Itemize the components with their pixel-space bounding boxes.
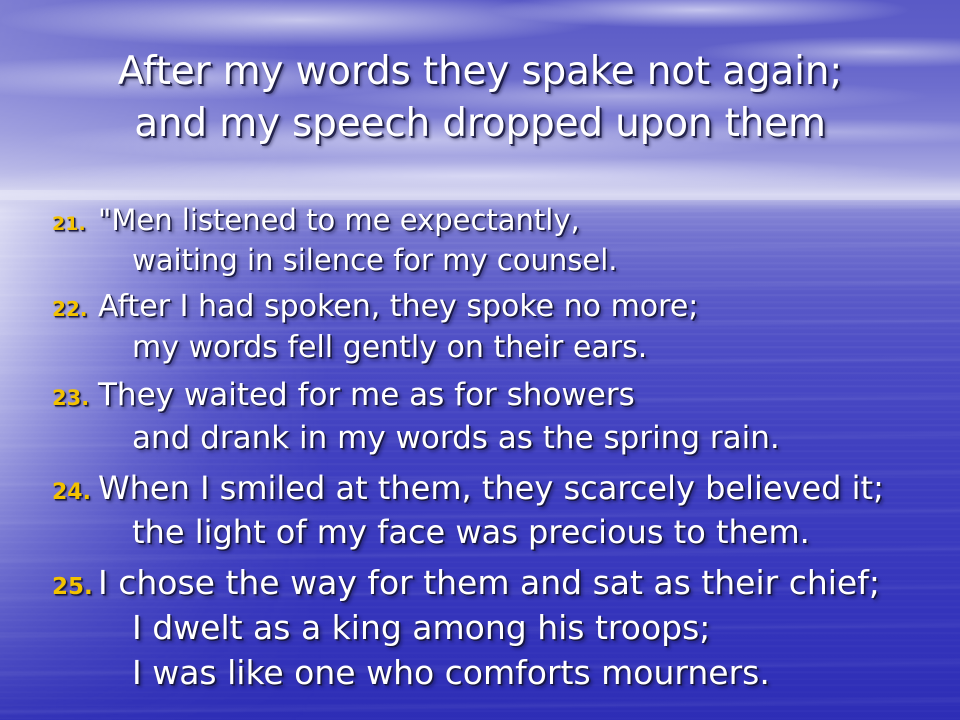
verse-line: I chose the way for them and sat as thei…: [98, 563, 880, 602]
verse-line: "Men listened to me expectantly,: [98, 203, 580, 237]
verse-line: and drank in my words as the spring rain…: [98, 417, 952, 460]
verse-number: 22.: [52, 297, 98, 321]
verse-text: I chose the way for them and sat as thei…: [98, 560, 952, 695]
verse-number: 25.: [52, 574, 98, 600]
verse-item: 21. "Men listened to me expectantly,wait…: [52, 200, 952, 280]
verse-line: my words fell gently on their ears.: [98, 327, 952, 368]
verse-item: 25. I chose the way for them and sat as …: [52, 560, 952, 695]
verse-text: They waited for me as for showersand dra…: [98, 374, 952, 460]
verse-line: waiting in silence for my counsel.: [98, 240, 952, 280]
verse-number: 21.: [52, 213, 98, 235]
verse-item: 23. They waited for me as for showersand…: [52, 374, 952, 460]
verse-text: When I smiled at them, they scarcely bel…: [98, 466, 952, 554]
verse-number: 24.: [52, 480, 98, 505]
slide-content: After my words they spake not again; and…: [0, 0, 960, 720]
verse-number: 23.: [52, 386, 98, 410]
verse-item: 24. When I smiled at them, they scarcely…: [52, 466, 952, 554]
verse-line: When I smiled at them, they scarcely bel…: [98, 469, 884, 507]
slide-title: After my words they spake not again; and…: [30, 46, 930, 150]
verse-item: 22. After I had spoken, they spoke no mo…: [52, 286, 952, 368]
verse-text: After I had spoken, they spoke no more;m…: [98, 286, 952, 368]
verse-line: They waited for me as for showers: [98, 377, 635, 413]
verse-line: I dwelt as a king among his troops;: [98, 605, 952, 650]
verse-line: After I had spoken, they spoke no more;: [98, 289, 698, 324]
verse-line: the light of my face was precious to the…: [98, 510, 952, 554]
verse-line: I was like one who comforts mourners.: [98, 650, 952, 695]
verse-text: "Men listened to me expectantly,waiting …: [98, 200, 952, 280]
verse-list: 21. "Men listened to me expectantly,wait…: [52, 200, 952, 701]
presentation-slide: After my words they spake not again; and…: [0, 0, 960, 720]
